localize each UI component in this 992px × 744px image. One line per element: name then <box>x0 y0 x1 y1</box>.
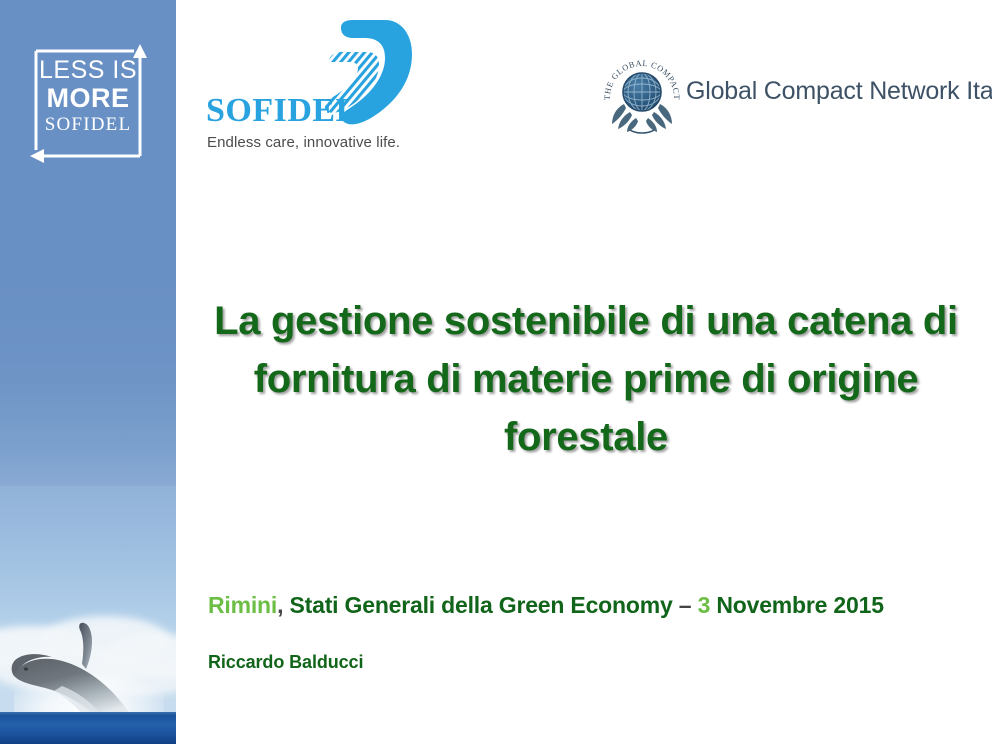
slide-title: La gestione sostenibile di una catena di… <box>190 292 982 466</box>
event-line: Rimini, Stati Generali della Green Econo… <box>208 592 978 619</box>
event-dash: – <box>679 592 692 618</box>
sofidel-logo: SOFIDEL Endless care, innovative life. <box>205 22 420 157</box>
sofidel-wordmark: SOFIDEL <box>206 92 359 130</box>
author-name: Riccardo Balducci <box>208 652 363 673</box>
event-city: Rimini <box>208 592 277 618</box>
left-decorative-band: LESS IS MORE SOFIDEL <box>0 0 176 744</box>
event-comma: , <box>277 592 283 618</box>
global-compact-network-italia-logo: THE GLOBAL COMPACT <box>600 50 972 138</box>
presentation-slide: LESS IS MORE SOFIDEL SOFIDEL Endless car… <box>0 0 992 744</box>
global-compact-emblem-icon: THE GLOBAL COMPACT <box>600 50 684 134</box>
logo-line-more: MORE <box>36 84 140 113</box>
sofidel-tagline: Endless care, innovative life. <box>207 134 400 151</box>
logo-line-less-is: LESS IS <box>36 56 140 84</box>
event-month-year: Novembre 2015 <box>716 592 883 618</box>
event-name: Stati Generali della Green Economy <box>290 592 673 618</box>
ocean-water <box>0 712 176 744</box>
global-compact-label: Global Compact Network Italia <box>686 77 992 106</box>
less-is-more-logo: LESS IS MORE SOFIDEL <box>22 38 157 170</box>
logo-line-sofidel: SOFIDEL <box>36 113 140 136</box>
event-day: 3 <box>698 592 711 618</box>
humpback-whale-icon <box>4 612 164 722</box>
